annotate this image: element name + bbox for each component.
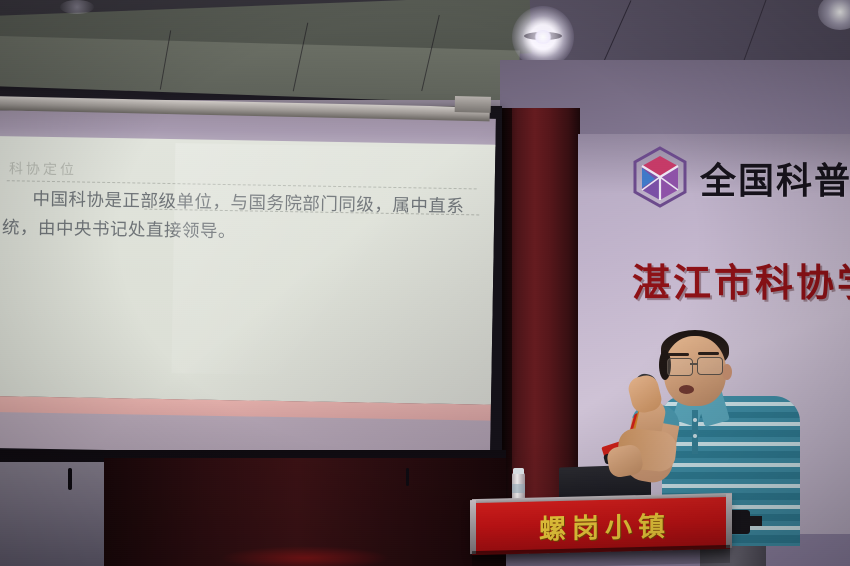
wall-hook bbox=[406, 468, 409, 486]
podium-edge-right bbox=[726, 494, 732, 548]
speaker-shirt-button bbox=[693, 434, 697, 438]
banner-subtitle: 湛江市科协学 bbox=[632, 252, 850, 307]
slide-shadow bbox=[0, 110, 496, 457]
water-bottle-label bbox=[512, 484, 525, 493]
speaker-shirt-button bbox=[693, 418, 697, 422]
glasses-icon bbox=[667, 358, 693, 376]
water-bottle-cap bbox=[513, 468, 524, 474]
quanguo-kepuri-cube-logo-icon bbox=[631, 146, 689, 208]
podium-text: 螺岗小镇 bbox=[505, 504, 705, 548]
speaker-ear bbox=[722, 364, 732, 380]
projection-screen-roller-cap bbox=[455, 96, 491, 113]
wood-column bbox=[502, 108, 580, 508]
presentation-photo-scene: 科协定位 中国科协是正部级单位，与国务院部门同级，属中直系统，由中央书记处直接领… bbox=[0, 0, 850, 566]
ceiling-light-icon bbox=[534, 30, 552, 44]
speaker-eyebrow-left bbox=[668, 353, 689, 356]
glasses-icon bbox=[697, 357, 723, 375]
wall-hook bbox=[68, 468, 72, 490]
podium-floor-glow bbox=[220, 546, 390, 566]
ceiling-light-icon bbox=[60, 0, 94, 14]
podium-edge-left bbox=[470, 500, 476, 554]
glasses-bridge bbox=[690, 363, 698, 365]
wood-column-shadow bbox=[502, 108, 512, 508]
banner-title: 全国科普日 bbox=[700, 152, 850, 204]
speaker-eyebrow-right bbox=[698, 352, 719, 355]
lower-wall-gray-panel bbox=[0, 462, 105, 566]
speaker-mouth bbox=[679, 385, 694, 394]
speaker-shirt-placket bbox=[692, 410, 698, 454]
